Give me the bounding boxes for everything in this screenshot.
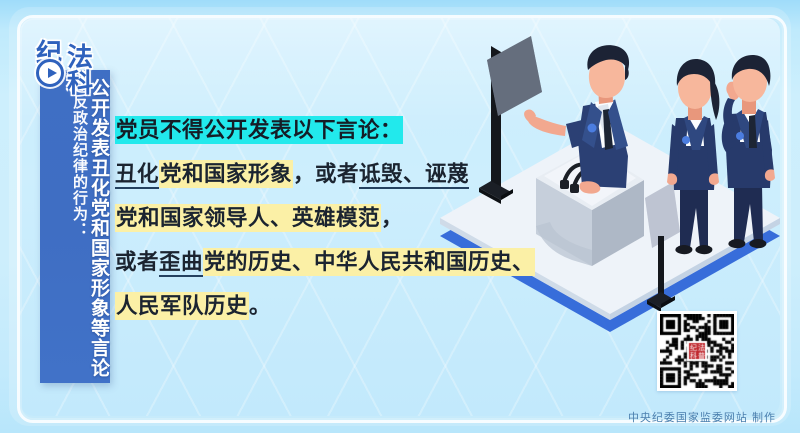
banner-sub-text: 违反政治纪律的行为：	[71, 78, 86, 378]
play-circle-icon	[36, 59, 64, 87]
body-segment: 歪曲	[159, 250, 203, 277]
body-line: 党员不得公开发表以下言论：	[115, 108, 545, 152]
body-line: 党和国家领导人、英雄模范，	[115, 196, 545, 240]
vertical-banner-columns: 公开发表丑化党和国家形象等言论 违反政治纪律的行为：	[40, 78, 110, 378]
body-segment: 党的历史、中华人民共和国历史、	[203, 248, 535, 276]
body-segment: 党和国家领导人、英雄模范	[115, 204, 381, 232]
body-line: 或者歪曲党的历史、中华人民共和国历史、	[115, 240, 545, 284]
body-segment: ，或者	[293, 162, 359, 186]
body-segment: 党和国家形象	[159, 160, 293, 188]
body-segment: 。	[249, 294, 271, 318]
body-segment: 丑化	[115, 162, 159, 189]
body-segment: 党员不得公开发表以下言论：	[115, 116, 403, 144]
body-segment: ，	[381, 206, 403, 230]
body-segment: 或者	[115, 250, 159, 274]
body-text-block: 党员不得公开发表以下言论： 丑化党和国家形象，或者诋毁、诬蔑 党和国家领导人、英…	[115, 108, 545, 328]
footer-credit: 中央纪委国家监委网站 制作	[628, 409, 776, 425]
banner-main-text: 公开发表丑化党和国家形象等言论	[89, 78, 108, 378]
logo-char-3: 科	[67, 63, 93, 100]
brand-logo: 纪 法 科	[34, 33, 120, 95]
body-segment: 人民军队历史	[115, 292, 249, 320]
vertical-banner: 公开发表丑化党和国家形象等言论 违反政治纪律的行为：	[40, 70, 110, 383]
body-segment: 诋毁、诬蔑	[359, 162, 469, 189]
body-line: 丑化党和国家形象，或者诋毁、诬蔑	[115, 152, 545, 196]
qr-code-image	[660, 314, 734, 388]
qr-code[interactable]	[657, 311, 737, 391]
body-line: 人民军队历史。	[115, 284, 545, 328]
poster-canvas: 公开发表丑化党和国家形象等言论 违反政治纪律的行为： 纪 法 科 党员不得公开发…	[0, 0, 800, 433]
